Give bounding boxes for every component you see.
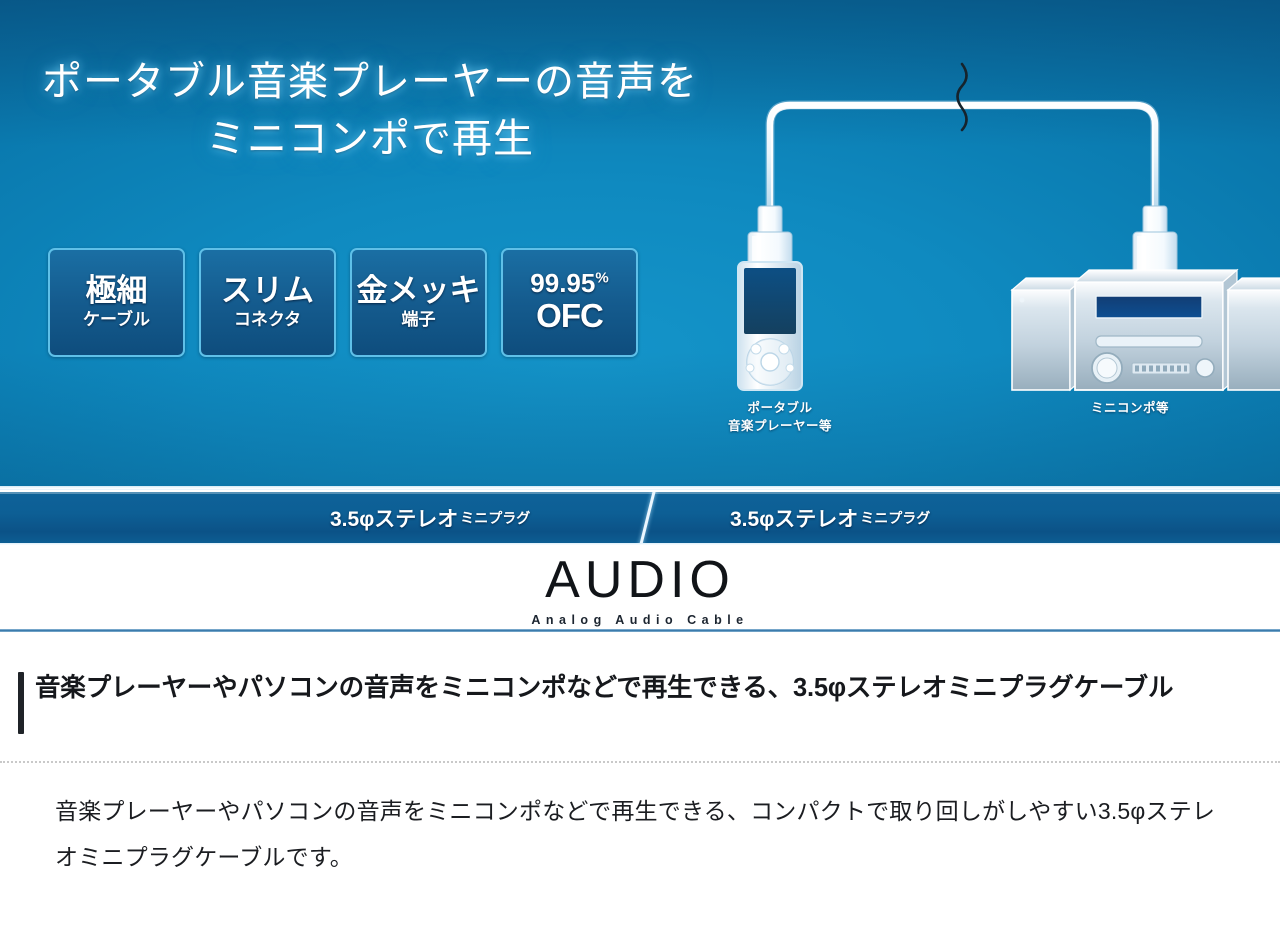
badge-subline: ケーブル (83, 311, 150, 330)
product-feature-page: ポータブル音楽プレーヤーの音声を ミニコンポで再生 極細 ケーブル スリム コネ… (0, 0, 1280, 942)
hero-title-line-1: ポータブル音楽プレーヤーの音声を (42, 60, 698, 104)
section-headline: 音楽プレーヤーやパソコンの音声をミニコンポなどで再生できる、3.5φステレオミニ… (18, 672, 1262, 734)
spec-left-main: 3.5φステレオ (330, 503, 458, 533)
badge-ofc-value: 99.95 (530, 268, 595, 298)
cable-break-squiggle (949, 64, 977, 130)
feature-badge-list: 極細 ケーブル スリム コネクタ 金メッキ 端子 99.95% OFC (48, 248, 638, 357)
dotted-divider (0, 761, 1280, 763)
spec-left-sub: ミニプラグ (460, 508, 530, 528)
portable-music-player-icon (738, 260, 804, 392)
device-label-mini-compo: ミニコンポ等 (1030, 399, 1230, 417)
spec-left: 3.5φステレオ ミニプラグ (330, 492, 530, 543)
body-description: 音楽プレーヤーやパソコンの音声をミニコンポなどで再生できる、コンパクトで取り回し… (55, 788, 1235, 880)
badge-subline: OFC (536, 298, 603, 334)
hero-banner: ポータブル音楽プレーヤーの音声を ミニコンポで再生 極細 ケーブル スリム コネ… (0, 0, 1280, 488)
logo-tagline: Analog Audio Cable (531, 614, 748, 627)
badge-ofc: 99.95% OFC (501, 248, 638, 357)
badge-headline: 極細 (86, 275, 148, 307)
band-bottom-divider (0, 543, 1280, 547)
badge-subline: 端子 (402, 311, 436, 330)
badge-slim-connector: スリム コネクタ (199, 248, 336, 357)
device-label-line-2: 音楽プレーヤー等 (690, 417, 870, 435)
spec-right-sub: ミニプラグ (860, 508, 930, 528)
hero-title-line-2: ミニコンポで再生 (0, 111, 740, 168)
badge-subline: コネクタ (234, 311, 301, 330)
badge-ultra-thin-cable: 極細 ケーブル (48, 248, 185, 357)
band-highlight (0, 492, 1280, 494)
product-logo: AUDIO Analog Audio Cable (0, 552, 1280, 628)
device-label-portable-player: ポータブル 音楽プレーヤー等 (690, 399, 870, 435)
logo-underline-rule (0, 629, 1280, 632)
badge-headline: 99.95% (530, 270, 608, 297)
badge-ofc-percent: % (595, 270, 608, 287)
spec-separator-slash (638, 492, 656, 543)
badge-headline: 金メッキ (357, 275, 481, 307)
badge-headline: スリム (221, 275, 314, 307)
mini-compo-stereo-icon (1012, 270, 1280, 390)
hero-title: ポータブル音楽プレーヤーの音声を ミニコンポで再生 (0, 54, 740, 168)
device-label-line-1: ポータブル (690, 399, 870, 417)
connector-spec-band: 3.5φステレオ ミニプラグ 3.5φステレオ ミニプラグ (0, 492, 1280, 543)
badge-gold-plated-terminal: 金メッキ 端子 (350, 248, 487, 357)
spec-right-main: 3.5φステレオ (730, 503, 858, 533)
headline-accent-bar (18, 672, 24, 734)
cable-path (770, 105, 1155, 212)
headline-text: 音楽プレーヤーやパソコンの音声をミニコンポなどで再生できる、3.5φステレオミニ… (35, 672, 1173, 706)
spec-right: 3.5φステレオ ミニプラグ (730, 492, 930, 543)
logo-wordmark: AUDIO (545, 554, 735, 606)
